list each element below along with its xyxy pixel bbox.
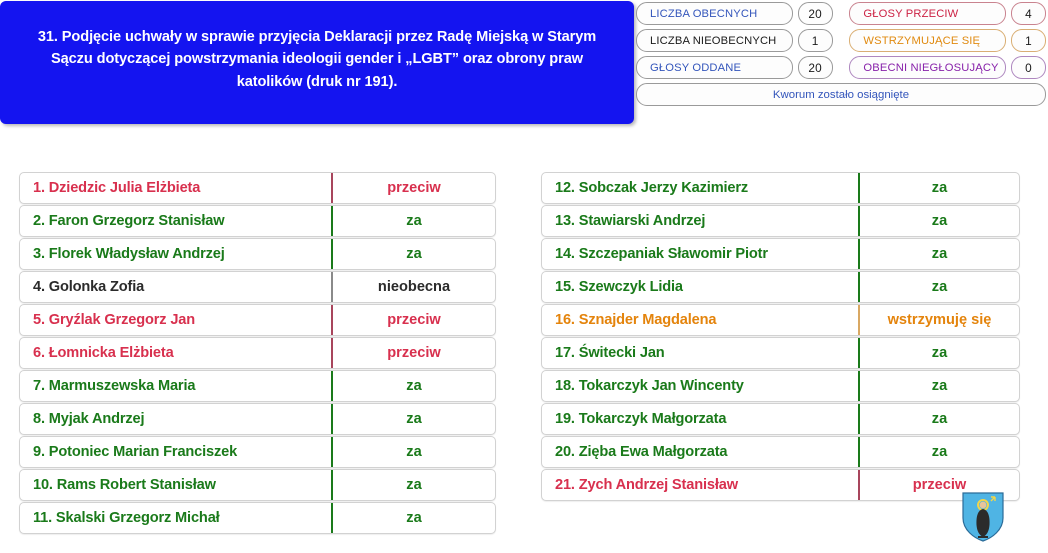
councillor-name: 17. Świtecki Jan <box>542 338 858 368</box>
vote-result: za <box>331 404 495 434</box>
councillor-name: 14. Szczepaniak Sławomir Piotr <box>542 239 858 269</box>
councillor-name: 21. Zych Andrzej Stanisław <box>542 470 858 500</box>
counter-spacer <box>838 29 845 52</box>
counter-label: OBECNI NIEGŁOSUJĄCY <box>849 56 1006 79</box>
table-row: 15. Szewczyk Lidiaza <box>541 271 1020 303</box>
councillor-name: 4. Golonka Zofia <box>20 272 331 302</box>
table-row: 17. Świtecki Janza <box>541 337 1020 369</box>
vote-result: za <box>858 404 1019 434</box>
counter-label: GŁOSY ODDANE <box>636 56 793 79</box>
vote-result: za <box>858 272 1019 302</box>
counter-value: 1 <box>1011 29 1046 52</box>
table-row: 18. Tokarczyk Jan Wincentyza <box>541 370 1020 402</box>
vote-result: wstrzymuję się <box>858 305 1019 335</box>
vote-result: za <box>858 371 1019 401</box>
vote-result: za <box>858 206 1019 236</box>
counter-label: GŁOSY PRZECIW <box>849 2 1006 25</box>
vote-result: za <box>331 239 495 269</box>
table-row: 16. Sznajder Magdalenawstrzymuję się <box>541 304 1020 336</box>
vote-counters-panel: LICZBA OBECNYCH20GŁOSY PRZECIW4 LICZBA N… <box>636 2 1046 106</box>
councillor-name: 19. Tokarczyk Małgorzata <box>542 404 858 434</box>
councillor-name: 8. Myjak Andrzej <box>20 404 331 434</box>
table-row: 8. Myjak Andrzejza <box>19 403 496 435</box>
counter-value: 0 <box>1011 56 1046 79</box>
vote-result: za <box>858 437 1019 467</box>
table-row: 14. Szczepaniak Sławomir Piotrza <box>541 238 1020 270</box>
table-row: 6. Łomnicka Elżbietaprzeciw <box>19 337 496 369</box>
councillor-name: 11. Skalski Grzegorz Michał <box>20 503 331 533</box>
counter-spacer <box>838 2 845 25</box>
counter-label: LICZBA OBECNYCH <box>636 2 793 25</box>
stary-sacz-coat-of-arms-icon <box>962 492 1004 542</box>
counter-label: LICZBA NIEOBECNYCH <box>636 29 793 52</box>
vote-result: nieobecna <box>331 272 495 302</box>
vote-table-left: 1. Dziedzic Julia Elżbietaprzeciw2. Faro… <box>19 172 496 535</box>
councillor-name: 2. Faron Grzegorz Stanisław <box>20 206 331 236</box>
quorum-status: Kworum zostało osiągnięte <box>636 83 1046 106</box>
counter-value: 1 <box>798 29 833 52</box>
councillor-name: 9. Potoniec Marian Franciszek <box>20 437 331 467</box>
councillor-name: 18. Tokarczyk Jan Wincenty <box>542 371 858 401</box>
councillor-name: 7. Marmuszewska Maria <box>20 371 331 401</box>
vote-result: za <box>331 206 495 236</box>
counter-value: 20 <box>798 2 833 25</box>
table-row: 3. Florek Władysław Andrzejza <box>19 238 496 270</box>
table-row: 1. Dziedzic Julia Elżbietaprzeciw <box>19 172 496 204</box>
table-row: 13. Stawiarski Andrzejza <box>541 205 1020 237</box>
table-row: 20. Zięba Ewa Małgorzataza <box>541 436 1020 468</box>
counter-value: 20 <box>798 56 833 79</box>
motion-title: 31. Podjęcie uchwały w sprawie przyjęcia… <box>18 26 616 93</box>
vote-result: za <box>331 437 495 467</box>
vote-result: za <box>331 470 495 500</box>
table-row: 9. Potoniec Marian Franciszekza <box>19 436 496 468</box>
table-row: 11. Skalski Grzegorz Michałza <box>19 502 496 534</box>
councillor-name: 13. Stawiarski Andrzej <box>542 206 858 236</box>
table-row: 10. Rams Robert Stanisławza <box>19 469 496 501</box>
councillor-name: 10. Rams Robert Stanisław <box>20 470 331 500</box>
counter-label: WSTRZYMUJĄCE SIĘ <box>849 29 1006 52</box>
table-row: 7. Marmuszewska Mariaza <box>19 370 496 402</box>
councillor-name: 1. Dziedzic Julia Elżbieta <box>20 173 331 203</box>
vote-result: przeciw <box>331 173 495 203</box>
counter-value: 4 <box>1011 2 1046 25</box>
header-area: 31. Podjęcie uchwały w sprawie przyjęcia… <box>0 0 1048 126</box>
table-row: 21. Zych Andrzej Stanisławprzeciw <box>541 469 1020 501</box>
counter-row: LICZBA NIEOBECNYCH1WSTRZYMUJĄCE SIĘ1 <box>636 29 1046 52</box>
vote-result: za <box>331 371 495 401</box>
vote-result: za <box>858 173 1019 203</box>
table-row: 19. Tokarczyk Małgorzataza <box>541 403 1020 435</box>
vote-result: za <box>858 239 1019 269</box>
councillor-name: 20. Zięba Ewa Małgorzata <box>542 437 858 467</box>
table-row: 5. Gryźlak Grzegorz Janprzeciw <box>19 304 496 336</box>
counter-row: LICZBA OBECNYCH20GŁOSY PRZECIW4 <box>636 2 1046 25</box>
table-row: 12. Sobczak Jerzy Kazimierzza <box>541 172 1020 204</box>
councillor-name: 3. Florek Władysław Andrzej <box>20 239 331 269</box>
vote-table-right: 12. Sobczak Jerzy Kazimierzza13. Stawiar… <box>541 172 1020 502</box>
councillor-name: 16. Sznajder Magdalena <box>542 305 858 335</box>
table-row: 2. Faron Grzegorz Stanisławza <box>19 205 496 237</box>
vote-result: za <box>858 338 1019 368</box>
table-row: 4. Golonka Zofianieobecna <box>19 271 496 303</box>
vote-result: przeciw <box>331 305 495 335</box>
councillor-name: 12. Sobczak Jerzy Kazimierz <box>542 173 858 203</box>
vote-result: przeciw <box>331 338 495 368</box>
motion-banner: 31. Podjęcie uchwały w sprawie przyjęcia… <box>0 1 634 124</box>
counter-row: GŁOSY ODDANE20OBECNI NIEGŁOSUJĄCY0 <box>636 56 1046 79</box>
vote-result: za <box>331 503 495 533</box>
councillor-name: 6. Łomnicka Elżbieta <box>20 338 331 368</box>
councillor-name: 15. Szewczyk Lidia <box>542 272 858 302</box>
counter-spacer <box>838 56 845 79</box>
councillor-name: 5. Gryźlak Grzegorz Jan <box>20 305 331 335</box>
